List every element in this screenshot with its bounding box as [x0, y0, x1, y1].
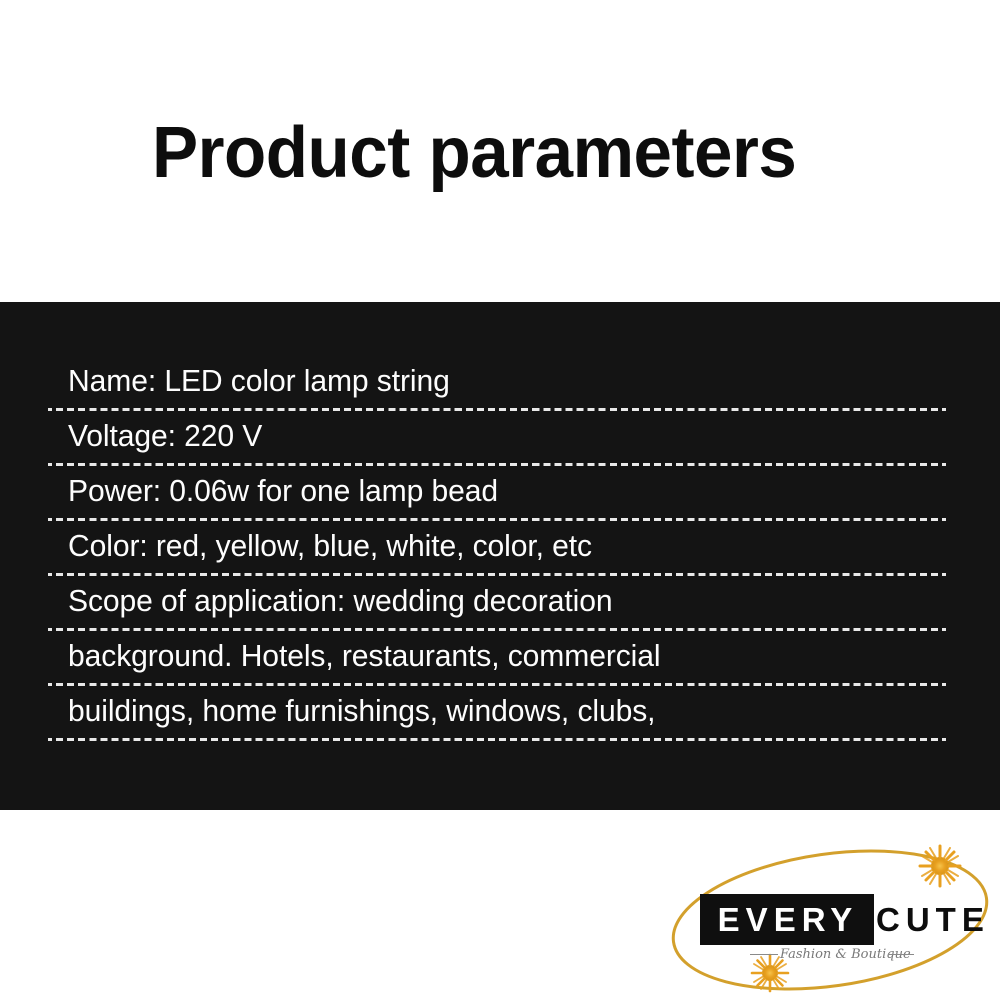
- spec-row-text: buildings, home furnishings, windows, cl…: [68, 686, 655, 739]
- page-root: Product parameters Name: LED color lamp …: [0, 0, 1000, 1000]
- spec-row-text: Voltage: 220 V: [68, 411, 262, 464]
- spec-row: Power: 0.06w for one lamp bead: [48, 466, 946, 521]
- page-header: Product parameters: [0, 110, 1000, 220]
- spec-row-text: Power: 0.06w for one lamp bead: [68, 466, 498, 519]
- spec-row-text: background. Hotels, restaurants, commerc…: [68, 631, 660, 684]
- specification-list: Name: LED color lamp string Voltage: 220…: [48, 356, 946, 741]
- brand-tagline: Fashion & Boutique: [780, 943, 911, 967]
- spec-row: buildings, home furnishings, windows, cl…: [48, 686, 946, 741]
- brand-primary-text: EVERY: [708, 894, 868, 945]
- spec-row-text: Color: red, yellow, blue, white, color, …: [68, 521, 592, 574]
- spec-row: background. Hotels, restaurants, commerc…: [48, 631, 946, 686]
- brand-secondary-text: CUTE: [876, 894, 990, 945]
- spec-row-divider: [48, 738, 946, 741]
- spec-row-text: Scope of application: wedding decoration: [68, 576, 612, 629]
- brand-watermark: EVERY CUTE Fashion & Boutique: [660, 836, 1000, 1000]
- spec-row: Voltage: 220 V: [48, 411, 946, 466]
- spec-row: Name: LED color lamp string: [48, 356, 946, 411]
- sunburst-star-icon: [920, 846, 960, 886]
- specification-panel: Name: LED color lamp string Voltage: 220…: [0, 302, 1000, 810]
- tagline-rule-left: [750, 954, 778, 955]
- spec-row: Scope of application: wedding decoration: [48, 576, 946, 631]
- tagline-rule-right: [888, 954, 914, 955]
- page-title: Product parameters: [152, 110, 796, 196]
- spec-row-text: Name: LED color lamp string: [68, 356, 450, 409]
- spec-row: Color: red, yellow, blue, white, color, …: [48, 521, 946, 576]
